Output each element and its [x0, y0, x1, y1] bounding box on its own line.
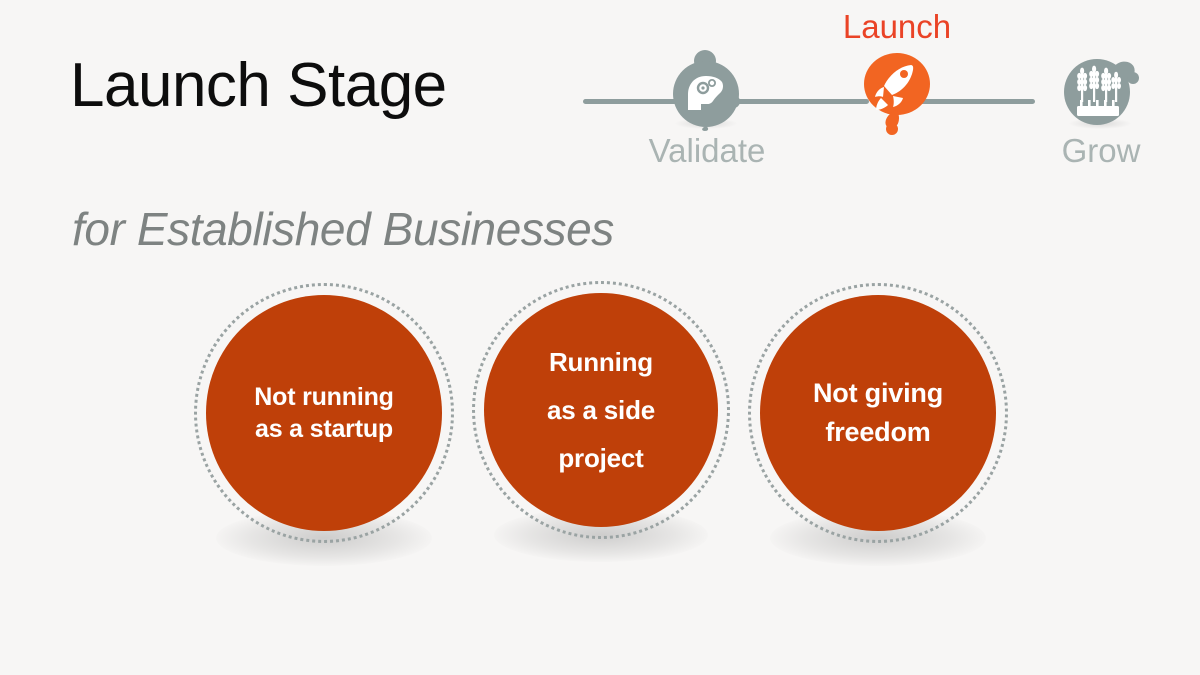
bubble-core[interactable]: Not running as a startup — [206, 295, 442, 531]
bubble-label: Not giving freedom — [799, 374, 957, 452]
bubble-label-line: as a startup — [254, 413, 393, 445]
bubble-label: Not running as a startup — [240, 381, 407, 445]
bubble-core[interactable]: Not giving freedom — [760, 295, 996, 531]
slide-canvas: Launch Stage for Established Businesses … — [0, 0, 1200, 675]
bubble-label-line: Not running — [254, 381, 393, 413]
bubble-label-line: as a side — [547, 386, 655, 434]
bubble-label-line: Running — [547, 338, 655, 386]
bubble-label-line: project — [547, 434, 655, 482]
bubble-label: Running as a side project — [533, 338, 669, 482]
bubble-row: Not running as a startup Running as a si… — [0, 0, 1200, 675]
bubble-label-line: freedom — [813, 413, 943, 452]
bubble-label-line: Not giving — [813, 374, 943, 413]
bubble-core[interactable]: Running as a side project — [484, 293, 718, 527]
